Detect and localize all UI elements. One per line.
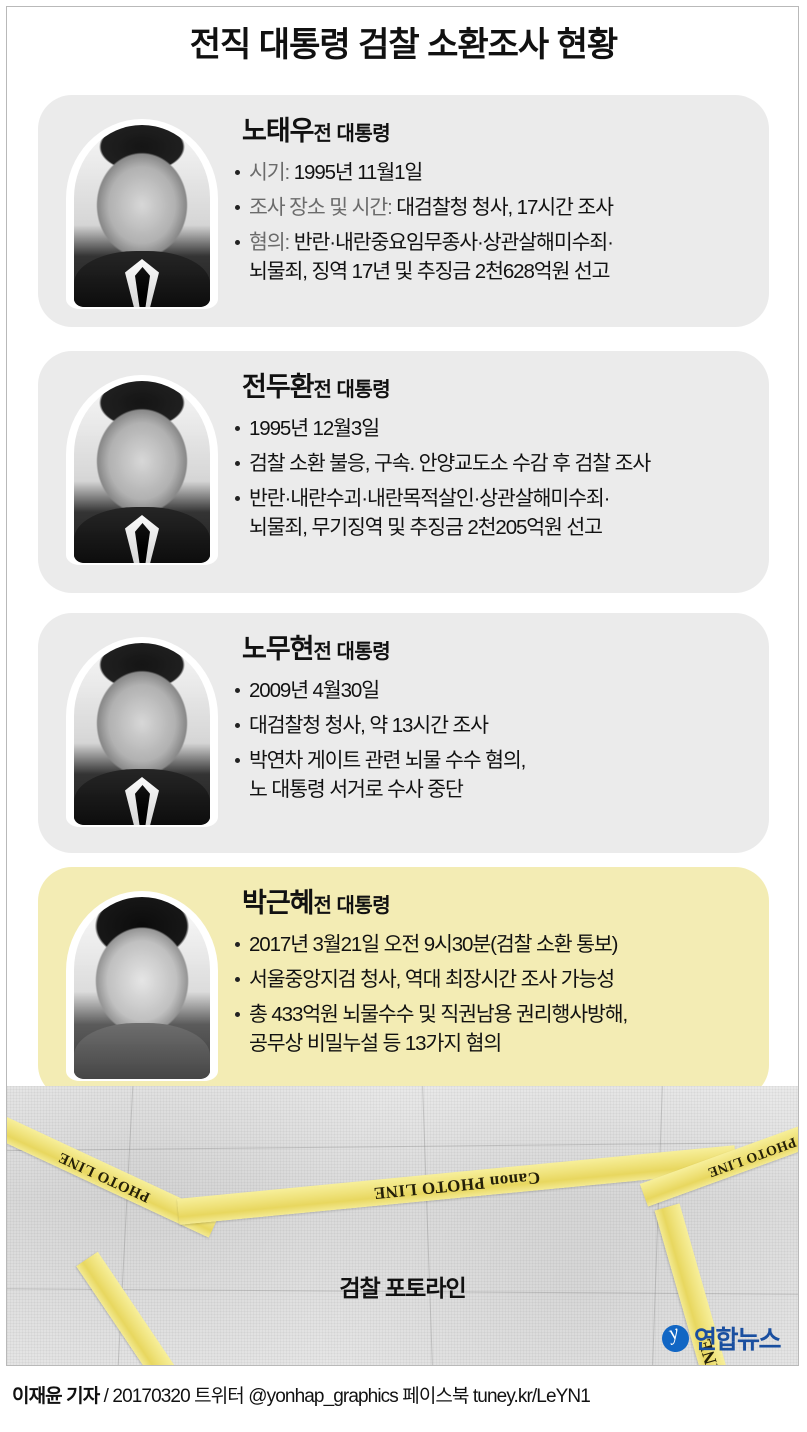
- bullet-text: 대검찰청 청사, 약 13시간 조사: [249, 714, 488, 737]
- name-suffix-2: 전 대통령: [314, 379, 391, 401]
- president-card-4: 박근혜전 대통령 2017년 3월21일 오전 9시30분(검찰 소환 통보) …: [38, 867, 769, 1099]
- portrait-face-3: [74, 643, 210, 825]
- list-item: 혐의: 반란·내란중요임무종사·상관살해미수죄· 뇌물죄, 징역 17년 및 추…: [234, 228, 743, 286]
- bullet-text: 서울중앙지검 청사, 역대 최장시간 조사 가능성: [249, 968, 614, 991]
- reporter-byline: 이재윤 기자: [12, 1386, 99, 1407]
- bullet-text: 2009년 4월30일: [249, 679, 379, 702]
- portrait-suit-4: [74, 1023, 210, 1079]
- bullet-label: 혐의:: [249, 231, 289, 254]
- bullet-list-3: 2009년 4월30일 대검찰청 청사, 약 13시간 조사 박연차 게이트 관…: [234, 676, 743, 804]
- photoline-caption: 검찰 포토라인: [7, 1269, 798, 1303]
- name-text-2: 전두환: [242, 372, 314, 402]
- list-item: 총 433억원 뇌물수수 및 직권남용 권리행사방해, 공무상 비밀누설 등 1…: [234, 1000, 743, 1058]
- list-item: 1995년 12월3일: [234, 414, 743, 443]
- president-card-2: 전두환전 대통령 1995년 12월3일 검찰 소환 불응, 구속. 안양교도소…: [38, 351, 769, 593]
- name-suffix-3: 전 대통령: [314, 641, 391, 663]
- bullet-text: 검찰 소환 불응, 구속. 안양교도소 수감 후 검찰 조사: [249, 452, 650, 475]
- bullet-text: 1995년 11월1일: [289, 161, 422, 184]
- portrait-cutout-4: [66, 891, 218, 1081]
- name-text-4: 박근혜: [242, 888, 314, 918]
- card-body-3: 노무현전 대통령 2009년 4월30일 대검찰청 청사, 약 13시간 조사 …: [234, 631, 743, 804]
- president-name-3: 노무현전 대통령: [234, 631, 743, 670]
- tape-text: PHOTO LINE: [706, 1133, 798, 1180]
- list-item: 조사 장소 및 시간: 대검찰청 청사, 17시간 조사: [234, 193, 743, 222]
- yonhap-logo-text: 연합뉴스: [694, 1320, 780, 1356]
- bullet-text: 2017년 3월21일 오전 9시30분(검찰 소환 통보): [249, 933, 617, 956]
- portrait-cutout-1: [66, 119, 218, 309]
- page-title: 전직 대통령 검찰 소환조사 현황: [7, 23, 799, 67]
- card-body-2: 전두환전 대통령 1995년 12월3일 검찰 소환 불응, 구속. 안양교도소…: [234, 369, 743, 542]
- president-name-4: 박근혜전 대통령: [234, 885, 743, 924]
- content-frame: 전직 대통령 검찰 소환조사 현황 노태우전 대통령 시기: 1995년 11월…: [6, 6, 799, 1366]
- yonhap-logo: 연합뉴스: [662, 1320, 780, 1356]
- name-text-3: 노무현: [242, 634, 314, 664]
- card-body-1: 노태우전 대통령 시기: 1995년 11월1일 조사 장소 및 시간: 대검찰…: [234, 113, 743, 286]
- portrait-photo-3: [66, 637, 218, 827]
- list-item: 대검찰청 청사, 약 13시간 조사: [234, 711, 743, 740]
- infographic-page: 전직 대통령 검찰 소환조사 현황 노태우전 대통령 시기: 1995년 11월…: [0, 0, 807, 1432]
- bullet-text: 박연차 게이트 관련 뇌물 수수 혐의, 노 대통령 서거로 수사 중단: [249, 749, 525, 801]
- bullet-list-2: 1995년 12월3일 검찰 소환 불응, 구속. 안양교도소 수감 후 검찰 …: [234, 414, 743, 542]
- portrait-photo-4: [66, 891, 218, 1081]
- list-item: 검찰 소환 불응, 구속. 안양교도소 수감 후 검찰 조사: [234, 449, 743, 478]
- footer-meta: / 20170320 트위터 @yonhap_graphics 페이스북 tun…: [99, 1386, 590, 1407]
- portrait-cutout-2: [66, 375, 218, 565]
- portrait-face-1: [74, 125, 210, 307]
- tape-text: PHOTO LINE: [56, 1147, 153, 1204]
- president-card-3: 노무현전 대통령 2009년 4월30일 대검찰청 청사, 약 13시간 조사 …: [38, 613, 769, 853]
- yonhap-y-mark-icon: [658, 1321, 692, 1355]
- tape-text: Canon PHOTO LINE: [373, 1167, 541, 1203]
- list-item: 반란·내란수괴·내란목적살인·상관살해미수죄· 뇌물죄, 무기징역 및 추징금 …: [234, 484, 743, 542]
- president-name-2: 전두환전 대통령: [234, 369, 743, 408]
- name-suffix-4: 전 대통령: [314, 895, 391, 917]
- bullet-text: 총 433억원 뇌물수수 및 직권남용 권리행사방해, 공무상 비밀누설 등 1…: [249, 1003, 627, 1055]
- list-item: 2009년 4월30일: [234, 676, 743, 705]
- bullet-list-1: 시기: 1995년 11월1일 조사 장소 및 시간: 대검찰청 청사, 17시…: [234, 158, 743, 286]
- list-item: 서울중앙지검 청사, 역대 최장시간 조사 가능성: [234, 965, 743, 994]
- bullet-text: 반란·내란수괴·내란목적살인·상관살해미수죄· 뇌물죄, 무기징역 및 추징금 …: [249, 487, 609, 539]
- portrait-face-4: [74, 897, 210, 1079]
- portrait-cutout-3: [66, 637, 218, 827]
- bullet-list-4: 2017년 3월21일 오전 9시30분(검찰 소환 통보) 서울중앙지검 청사…: [234, 930, 743, 1058]
- bullet-text: 반란·내란중요임무종사·상관살해미수죄· 뇌물죄, 징역 17년 및 추징금 2…: [249, 231, 613, 283]
- bullet-label: 시기:: [249, 161, 289, 184]
- pavement-seam: [422, 1086, 433, 1366]
- president-name-1: 노태우전 대통령: [234, 113, 743, 152]
- portrait-face-2: [74, 381, 210, 563]
- bullet-text: 대검찰청 청사, 17시간 조사: [392, 196, 613, 219]
- president-card-1: 노태우전 대통령 시기: 1995년 11월1일 조사 장소 및 시간: 대검찰…: [38, 95, 769, 327]
- footer-credit: 이재윤 기자 / 20170320 트위터 @yonhap_graphics 페…: [12, 1381, 795, 1408]
- card-body-4: 박근혜전 대통령 2017년 3월21일 오전 9시30분(검찰 소환 통보) …: [234, 885, 743, 1058]
- name-suffix-1: 전 대통령: [314, 123, 391, 145]
- portrait-photo-2: [66, 375, 218, 565]
- bullet-text: 1995년 12월3일: [249, 417, 379, 440]
- bullet-label: 조사 장소 및 시간:: [249, 196, 392, 219]
- photoline-photo: PHOTO LINE Canon PHOTO LINE PHOTO LINE C…: [7, 1086, 798, 1366]
- list-item: 박연차 게이트 관련 뇌물 수수 혐의, 노 대통령 서거로 수사 중단: [234, 746, 743, 804]
- portrait-photo-1: [66, 119, 218, 309]
- name-text-1: 노태우: [242, 116, 314, 146]
- list-item: 2017년 3월21일 오전 9시30분(검찰 소환 통보): [234, 930, 743, 959]
- list-item: 시기: 1995년 11월1일: [234, 158, 743, 187]
